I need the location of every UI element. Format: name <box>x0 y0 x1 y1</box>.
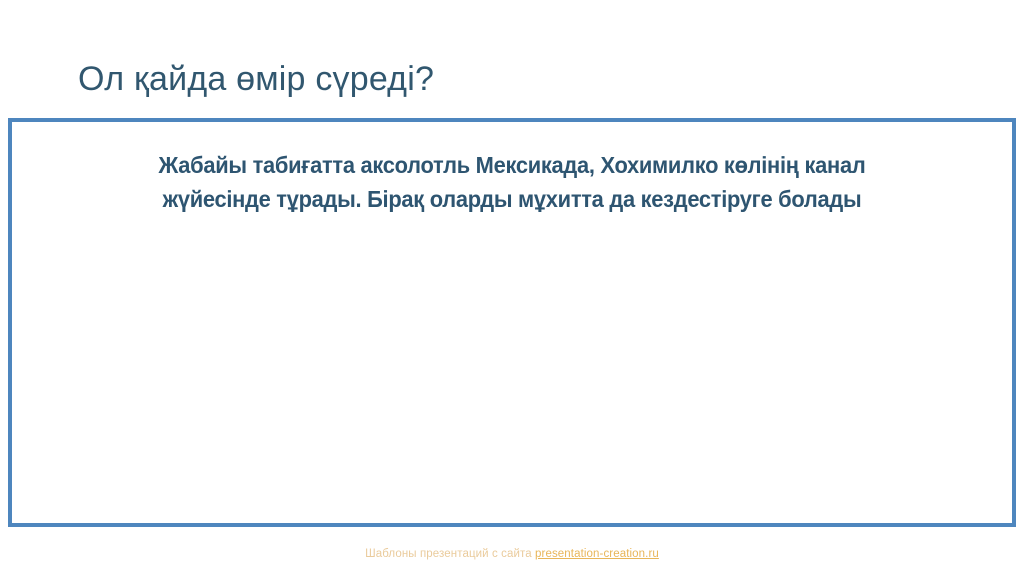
slide-canvas: Ол қайда өмір сүреді? Жабайы табиғатта а… <box>0 0 1024 574</box>
footer-prefix-text: Шаблоны презентаций с сайта <box>365 548 535 560</box>
page-title: Ол қайда өмір сүреді? <box>78 57 958 101</box>
body-text-block: Жабайы табиғатта аксолотль Мексикада, Хо… <box>140 148 884 216</box>
footer-attribution: Шаблоны презентаций с сайта presentation… <box>0 548 1024 560</box>
content-frame: Жабайы табиғатта аксолотль Мексикада, Хо… <box>8 118 1016 527</box>
footer-source-link[interactable]: presentation-creation.ru <box>535 548 659 560</box>
body-text-line-2: жүйесінде тұрады. Бірақ оларды мұхитта д… <box>140 182 884 216</box>
body-text-line-1: Жабайы табиғатта аксолотль Мексикада, Хо… <box>140 148 884 182</box>
